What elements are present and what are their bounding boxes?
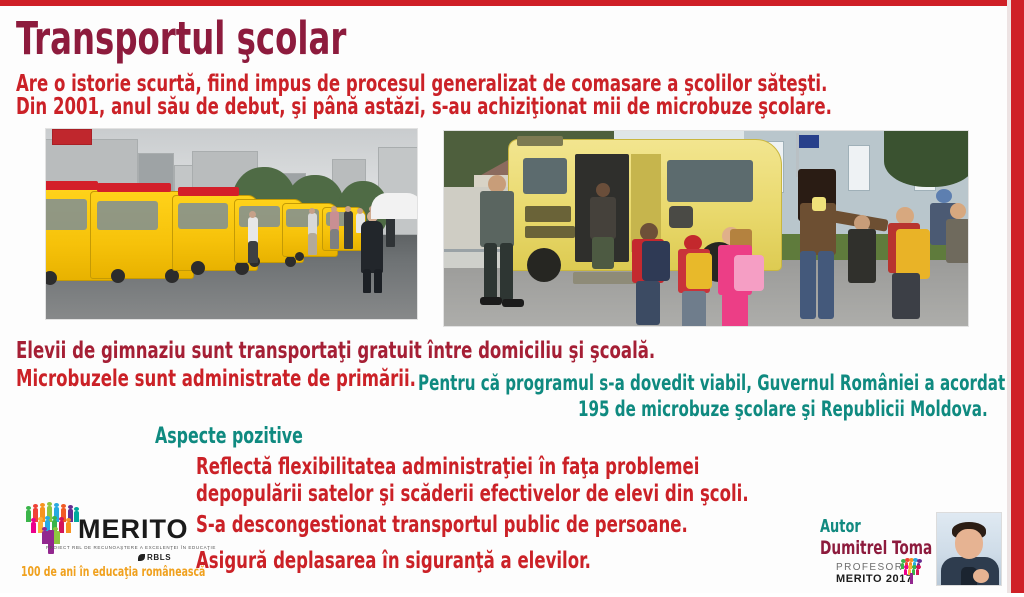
windshield bbox=[667, 160, 753, 202]
positives-item-3: S-a descongestionat transportul public d… bbox=[196, 512, 688, 538]
tree-canopy bbox=[884, 131, 969, 187]
mid-line-2: Microbuzele sunt administrate de primări… bbox=[16, 366, 416, 392]
positives-item-1: Reflectă flexibilitatea administraţiei î… bbox=[196, 454, 699, 480]
rbls-mark: RBLS bbox=[138, 553, 171, 562]
mid-line-1: Elevii de gimnaziu sunt transportaţi gra… bbox=[16, 338, 655, 364]
windshield bbox=[239, 206, 280, 227]
merito-tagline: 100 de ani în educaţia românească bbox=[21, 565, 205, 580]
photo-minibus-fleet bbox=[45, 128, 418, 320]
transport-elevi-sign bbox=[178, 187, 238, 196]
wheel bbox=[111, 269, 125, 283]
person-suit bbox=[361, 221, 383, 273]
green-line-2: 195 de microbuze şcolare şi Republicii M… bbox=[578, 397, 988, 421]
canopy bbox=[371, 193, 418, 219]
window bbox=[848, 145, 870, 191]
author-badge: Autor Dumitrel Toma PROFESOR MERITO 2017 bbox=[808, 516, 1004, 586]
author-name: Dumitrel Toma bbox=[820, 537, 932, 559]
legs bbox=[636, 281, 660, 325]
intro-line-2: Din 2001, anul său de debut, şi până ast… bbox=[16, 94, 832, 120]
backpack bbox=[896, 229, 930, 279]
merito-tree-icon-small bbox=[900, 560, 926, 584]
positives-item-4: Asigură deplasarea în siguranţă a elevil… bbox=[196, 548, 591, 574]
leaf-icon bbox=[138, 554, 145, 561]
coat bbox=[946, 219, 969, 263]
person bbox=[330, 229, 339, 249]
transport-elevi-sign bbox=[45, 181, 98, 190]
head bbox=[950, 203, 966, 219]
shoe bbox=[480, 297, 502, 305]
author-role: PROFESOR bbox=[836, 562, 903, 573]
torso bbox=[590, 197, 616, 239]
top-accent-bar bbox=[0, 0, 1024, 6]
rbls-label: RBLS bbox=[147, 553, 171, 562]
author-label: Autor bbox=[820, 516, 861, 537]
roof-sign bbox=[517, 136, 563, 146]
person-head bbox=[249, 211, 256, 218]
person bbox=[330, 211, 339, 231]
leg bbox=[500, 243, 513, 301]
page-title: Transportul şcolar bbox=[16, 14, 346, 64]
person bbox=[308, 233, 317, 255]
backpack bbox=[686, 253, 712, 289]
legs bbox=[682, 291, 706, 327]
legs bbox=[722, 293, 748, 327]
hand bbox=[973, 569, 989, 583]
side-lettering bbox=[525, 206, 571, 222]
backpack bbox=[642, 241, 670, 281]
backpack bbox=[734, 255, 764, 291]
head bbox=[596, 183, 610, 197]
legs bbox=[592, 237, 614, 269]
positives-heading: Aspecte pozitive bbox=[155, 424, 303, 449]
right-accent-bar bbox=[1011, 0, 1024, 597]
merito-subtitle: PROIECT RBL DE RECUNOAŞTERE A EXCELENŢEI… bbox=[46, 545, 216, 550]
jeans-leg bbox=[800, 251, 816, 319]
photo-children-boarding bbox=[443, 130, 969, 327]
windshield bbox=[178, 203, 228, 228]
author-portrait bbox=[936, 512, 1002, 586]
positives-item-2: depopulării satelor şi scăderii efective… bbox=[196, 481, 749, 507]
coat bbox=[848, 229, 876, 283]
side-lettering bbox=[525, 226, 575, 238]
wheel bbox=[527, 248, 561, 282]
merito-wordmark: MERITO bbox=[78, 514, 189, 545]
eu-flag bbox=[799, 135, 819, 148]
person-head bbox=[357, 208, 363, 214]
leg bbox=[374, 269, 382, 293]
person-head bbox=[331, 206, 337, 212]
rooftop-sign bbox=[52, 129, 92, 145]
leg bbox=[363, 269, 371, 293]
person bbox=[308, 213, 317, 235]
jeans-leg bbox=[818, 251, 834, 319]
cap bbox=[936, 189, 952, 203]
person-head bbox=[309, 208, 315, 214]
person bbox=[248, 241, 258, 263]
face bbox=[955, 529, 983, 559]
windshield bbox=[97, 201, 158, 230]
wheel bbox=[235, 261, 249, 275]
torso bbox=[480, 191, 514, 247]
person bbox=[344, 211, 353, 249]
mirror bbox=[669, 206, 693, 228]
merito-logo: MERITO PROIECT RBL DE RECUNOAŞTERE A EXC… bbox=[16, 500, 201, 588]
wheel bbox=[191, 261, 205, 275]
side-window bbox=[523, 158, 567, 194]
bottom-edge bbox=[0, 593, 1024, 597]
legs bbox=[892, 273, 920, 319]
scarf bbox=[812, 197, 826, 211]
wheel bbox=[165, 269, 179, 283]
person bbox=[248, 217, 258, 243]
leg bbox=[484, 243, 497, 301]
green-line-1: Pentru că programul s-a dovedit viabil, … bbox=[418, 371, 1005, 395]
windshield bbox=[45, 199, 87, 230]
shoe bbox=[502, 299, 524, 307]
transport-elevi-sign bbox=[97, 183, 170, 192]
person-head bbox=[345, 206, 351, 212]
wheel bbox=[295, 252, 304, 261]
slide-canvas: Transportul şcolar Are o istorie scurtă,… bbox=[0, 0, 1024, 597]
